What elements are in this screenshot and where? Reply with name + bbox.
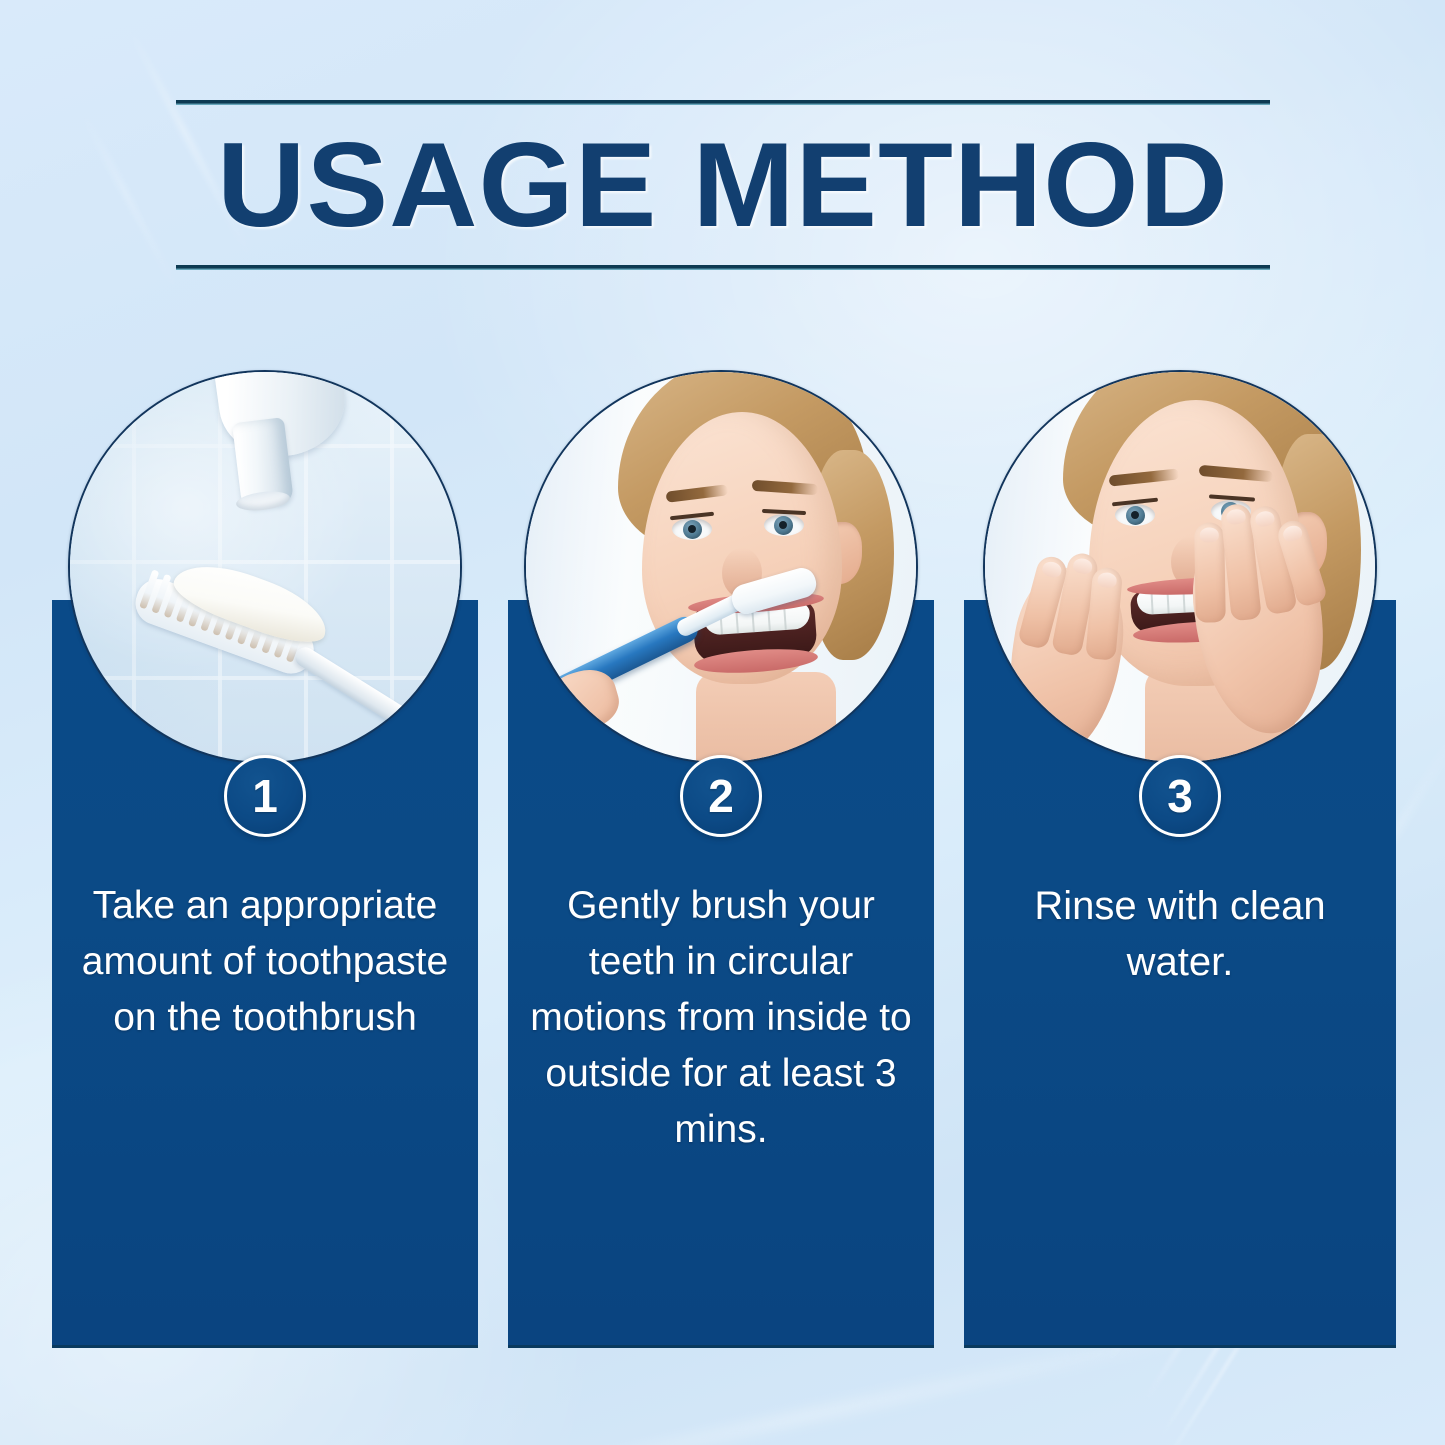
title-rule-bottom (176, 265, 1270, 270)
step-caption-3: Rinse with clean water. (978, 878, 1382, 990)
title-block: USAGE METHOD (176, 100, 1270, 270)
step-badge-1: 1 (224, 755, 306, 837)
infographic-canvas: USAGE METHOD (0, 0, 1445, 1445)
fingernail (1072, 557, 1094, 575)
woman-smiling-hands-on-cheeks-photo (983, 370, 1377, 764)
step-card-3[interactable]: 3 Rinse with clean water. (964, 600, 1396, 1348)
fingernail (1041, 560, 1063, 579)
woman-brushing-teeth-photo (524, 370, 918, 764)
toothpaste-on-toothbrush-photo (68, 370, 462, 764)
page-title: USAGE METHOD (165, 105, 1281, 265)
step-number: 3 (1167, 773, 1193, 819)
pupil-left (688, 525, 696, 533)
step-number: 1 (252, 773, 278, 819)
fingernail (1281, 523, 1304, 543)
fingernail (1097, 572, 1117, 589)
fingernail (1226, 508, 1246, 525)
fingernail (1254, 510, 1276, 528)
step-caption-2: Gently brush your teeth in circular moti… (522, 878, 920, 1158)
step-badge-3: 3 (1139, 755, 1221, 837)
finger (1194, 522, 1226, 623)
neck (696, 672, 836, 764)
step-number: 2 (708, 773, 734, 819)
pupil-right (779, 521, 787, 529)
step-card-1[interactable]: 1 Take an appropriate amount of toothpas… (52, 600, 478, 1348)
step-card-2[interactable]: 2 Gently brush your teeth in circular mo… (508, 600, 934, 1348)
step-caption-1: Take an appropriate amount of toothpaste… (66, 878, 464, 1046)
step-badge-2: 2 (680, 755, 762, 837)
pupil-left (1131, 511, 1139, 519)
fingernail (1200, 527, 1219, 542)
